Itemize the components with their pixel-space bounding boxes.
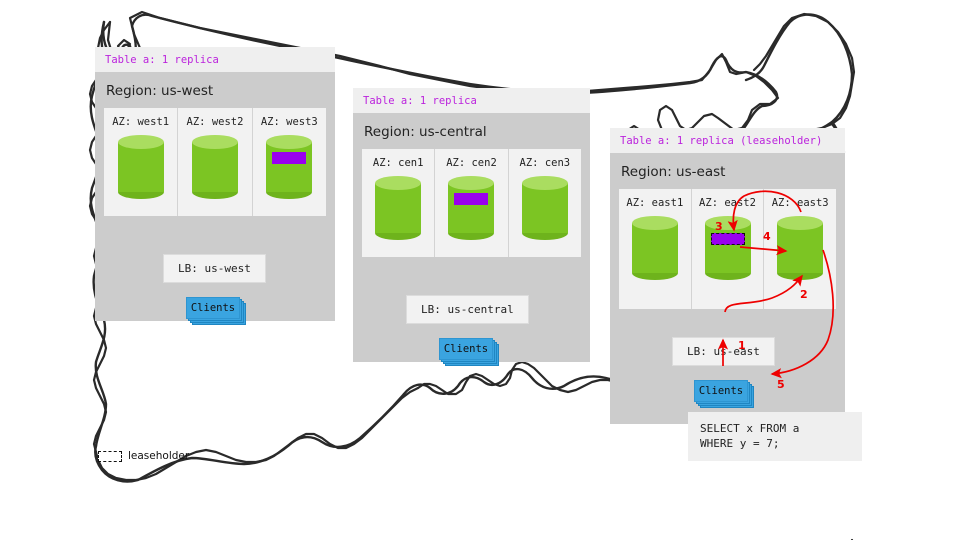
node-cylinder-cen1[interactable] <box>375 176 421 239</box>
az-cell-east2[interactable]: AZ: east2 <box>691 189 764 309</box>
cylinder-top <box>632 216 678 230</box>
cylinder-top <box>375 176 421 190</box>
az-label-cen2: AZ: cen2 <box>437 157 505 169</box>
cylinder-body <box>266 142 312 192</box>
diagram-canvas: Table a: 1 replica Region: us-west AZ: w… <box>0 0 960 540</box>
cylinder-top <box>266 135 312 149</box>
cylinder-body <box>448 183 494 233</box>
az-cell-west3[interactable]: AZ: west3 <box>252 108 326 216</box>
sql-query-box: SELECT x FROM a WHERE y = 7; <box>688 412 862 461</box>
flow-step-label-1: 1 <box>738 339 746 352</box>
panel-header-us-central: Table a: 1 replica <box>353 88 590 113</box>
az-cell-west1[interactable]: AZ: west1 <box>104 108 177 216</box>
az-cell-cen1[interactable]: AZ: cen1 <box>362 149 434 257</box>
clients-label-us-central[interactable]: Clients <box>439 338 493 360</box>
panel-body-us-west: Region: us-west AZ: west1 AZ: west2 <box>95 72 335 321</box>
cylinder-body <box>777 223 823 273</box>
leaseholder-marker-east2 <box>711 233 745 245</box>
az-label-west3: AZ: west3 <box>255 116 324 128</box>
clients-label-us-west[interactable]: Clients <box>186 297 240 319</box>
az-label-east2: AZ: east2 <box>694 197 762 209</box>
flow-step-label-2: 2 <box>800 288 808 301</box>
legend-label: leaseholder <box>128 450 189 462</box>
flow-step-label-3: 3 <box>715 220 723 233</box>
cylinder-top <box>705 216 751 230</box>
cylinder-body <box>522 183 568 233</box>
cylinder-body <box>118 142 164 192</box>
clients-label-us-east[interactable]: Clients <box>694 380 748 402</box>
node-cylinder-west1[interactable] <box>118 135 164 198</box>
region-panel-us-east: Table a: 1 replica (leaseholder) Region:… <box>610 128 845 424</box>
az-cell-west2[interactable]: AZ: west2 <box>177 108 251 216</box>
node-cylinder-west3[interactable] <box>266 135 312 198</box>
leaseholder-swatch-icon <box>98 451 122 462</box>
az-row-us-west: AZ: west1 AZ: west2 AZ <box>104 108 326 216</box>
az-cell-cen3[interactable]: AZ: cen3 <box>508 149 581 257</box>
clients-stack-us-central[interactable]: Clients <box>439 338 497 363</box>
flow-step-label-4: 4 <box>763 230 771 243</box>
flow-step-label-5: 5 <box>777 378 785 391</box>
region-title-us-central: Region: us-central <box>362 121 581 149</box>
node-cylinder-cen3[interactable] <box>522 176 568 239</box>
az-label-east3: AZ: east3 <box>766 197 834 209</box>
panel-header-us-east: Table a: 1 replica (leaseholder) <box>610 128 845 153</box>
node-cylinder-east1[interactable] <box>632 216 678 279</box>
lb-box-us-west[interactable]: LB: us-west <box>163 254 266 283</box>
lb-box-us-central[interactable]: LB: us-central <box>406 295 529 324</box>
clients-stack-us-west[interactable]: Clients <box>186 297 244 322</box>
region-title-us-west: Region: us-west <box>104 80 326 108</box>
cylinder-body <box>192 142 238 192</box>
region-panel-us-west: Table a: 1 replica Region: us-west AZ: w… <box>95 47 335 321</box>
panel-body-us-east: Region: us-east AZ: east1 AZ: east2 <box>610 153 845 424</box>
cylinder-body <box>705 223 751 273</box>
lb-box-us-east[interactable]: LB: us-east <box>672 337 775 366</box>
az-label-west1: AZ: west1 <box>106 116 175 128</box>
cylinder-body <box>632 223 678 273</box>
az-label-west2: AZ: west2 <box>180 116 249 128</box>
legend: leaseholder <box>98 450 189 462</box>
clients-stack-us-east[interactable]: Clients <box>694 380 752 405</box>
node-cylinder-cen2[interactable] <box>448 176 494 239</box>
region-title-us-east: Region: us-east <box>619 161 836 189</box>
cylinder-top <box>192 135 238 149</box>
replica-marker-cen2 <box>454 193 488 205</box>
az-row-us-central: AZ: cen1 AZ: cen2 <box>362 149 581 257</box>
cylinder-top <box>118 135 164 149</box>
replica-marker-west3 <box>272 152 306 164</box>
cylinder-top <box>777 216 823 230</box>
node-cylinder-east3[interactable] <box>777 216 823 279</box>
az-label-cen1: AZ: cen1 <box>364 157 432 169</box>
panel-body-us-central: Region: us-central AZ: cen1 AZ: cen2 <box>353 113 590 362</box>
panel-header-us-west: Table a: 1 replica <box>95 47 335 72</box>
node-cylinder-east2[interactable] <box>705 216 751 279</box>
az-label-east1: AZ: east1 <box>621 197 689 209</box>
az-label-cen3: AZ: cen3 <box>511 157 579 169</box>
cylinder-top <box>522 176 568 190</box>
region-panel-us-central: Table a: 1 replica Region: us-central AZ… <box>353 88 590 362</box>
az-cell-east1[interactable]: AZ: east1 <box>619 189 691 309</box>
node-cylinder-west2[interactable] <box>192 135 238 198</box>
az-cell-cen2[interactable]: AZ: cen2 <box>434 149 507 257</box>
cylinder-body <box>375 183 421 233</box>
